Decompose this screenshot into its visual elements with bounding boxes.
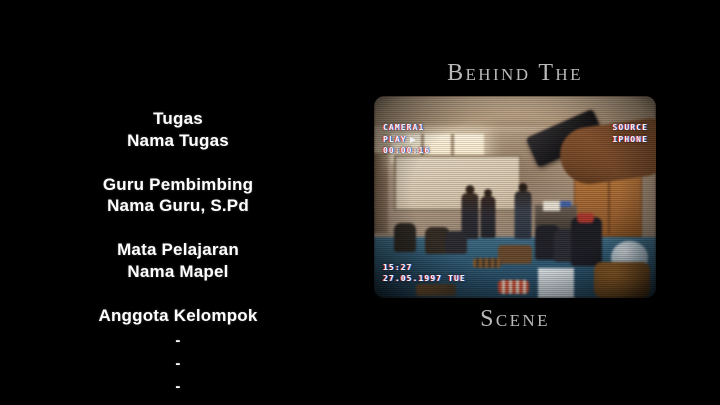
group-member-list: - - - - xyxy=(30,330,326,405)
scene-striped-object xyxy=(498,280,529,294)
credit-heading-group-members: Anggota Kelompok xyxy=(30,305,326,327)
scene-desk-paper xyxy=(543,201,560,211)
scene-floor-object xyxy=(473,258,501,268)
group-member-item: - xyxy=(30,376,326,399)
scene-floor-object xyxy=(416,284,455,296)
credit-block-group-members: Anggota Kelompok - - - - xyxy=(30,305,326,405)
scene-standing-person xyxy=(509,183,537,250)
scene-artwork xyxy=(374,96,656,298)
credit-block-supervising-teacher: Guru Pembimbing Nama Guru, S.Pd xyxy=(30,174,326,218)
credit-block-subject: Mata Pelajaran Nama Mapel xyxy=(30,239,326,283)
scene-door-frame xyxy=(374,153,388,234)
title-top-word: Behind The xyxy=(370,60,660,87)
video-scene-image xyxy=(374,96,656,298)
credit-heading-assignment: Tugas xyxy=(30,108,326,130)
video-credits-screen: Tugas Nama Tugas Guru Pembimbing Nama Gu… xyxy=(0,0,720,405)
scene-seated-person xyxy=(394,223,417,251)
title-bottom-word: Scene xyxy=(370,306,660,333)
credit-heading-subject: Mata Pelajaran xyxy=(30,239,326,261)
scene-brown-bag xyxy=(594,262,650,298)
credit-value-subject: Nama Mapel xyxy=(30,261,326,283)
group-member-item: - xyxy=(30,399,326,405)
credit-value-assignment: Nama Tugas xyxy=(30,130,326,152)
scene-cabinet-seam xyxy=(608,174,610,233)
scene-seated-person xyxy=(571,217,602,265)
credit-value-supervising-teacher: Nama Guru, S.Pd xyxy=(30,195,326,217)
scene-desk-object xyxy=(560,201,571,207)
scene-floor-object xyxy=(498,245,532,263)
group-member-item: - xyxy=(30,330,326,353)
scene-person-body xyxy=(515,191,532,239)
credit-block-assignment: Tugas Nama Tugas xyxy=(30,108,326,152)
group-member-item: - xyxy=(30,353,326,376)
scene-standing-person xyxy=(476,189,501,250)
credits-column: Tugas Nama Tugas Guru Pembimbing Nama Gu… xyxy=(30,108,326,405)
scene-seated-person xyxy=(445,231,468,253)
scene-person-body xyxy=(481,196,496,238)
scene-red-garment xyxy=(577,213,594,223)
scene-white-box xyxy=(538,268,575,298)
credit-heading-supervising-teacher: Guru Pembimbing xyxy=(30,174,326,196)
video-frame: CAMERA1 PLAY 00:00:16 SOURCE IPHONE 15:2… xyxy=(374,96,656,298)
